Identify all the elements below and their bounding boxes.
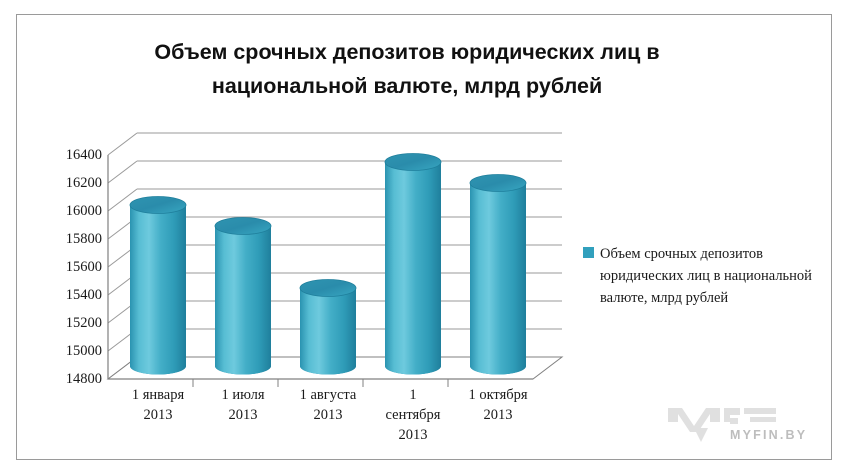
legend-item-label: Объем срочных депозитов юридических лиц … (600, 243, 825, 309)
bar-5[interactable] (470, 175, 526, 375)
bar-1[interactable] (130, 197, 186, 375)
x-tick-line: 2013 (358, 425, 468, 445)
bar-4[interactable] (385, 154, 441, 375)
legend-color-swatch (583, 247, 594, 258)
chart-legend: Объем срочных депозитов юридических лиц … (583, 243, 833, 309)
x-axis-tick-label-5: 1 октября 2013 (443, 385, 553, 425)
x-tick-line: 2013 (443, 405, 553, 425)
legend-item[interactable]: Объем срочных депозитов юридических лиц … (583, 243, 833, 309)
myfin-logo-icon (664, 400, 824, 452)
watermark-text: MYFIN.BY (730, 428, 807, 442)
bar-2[interactable] (215, 218, 271, 375)
bar-3[interactable] (300, 280, 356, 375)
x-tick-line: 1 октября (443, 385, 553, 405)
